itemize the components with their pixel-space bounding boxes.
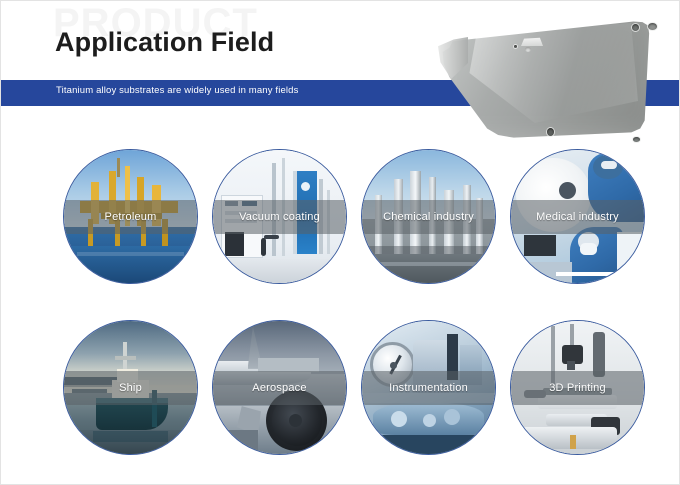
item-label: Instrumentation <box>386 382 471 394</box>
item-label: Petroleum <box>102 211 160 223</box>
application-row: Ship <box>1 306 680 471</box>
item-label: Medical industry <box>533 211 622 223</box>
circle-frame: Chemical industry <box>361 149 496 284</box>
item-label-bar: Instrumentation <box>362 371 495 405</box>
application-item-aerospace[interactable]: Aerospace <box>212 320 347 455</box>
item-label-bar: 3D Printing <box>511 371 644 405</box>
application-row: Petroleum <box>1 141 680 306</box>
titanium-plate-image <box>426 1 676 146</box>
item-label-bar: Vacuum coating <box>213 200 346 234</box>
item-label-bar: Aerospace <box>213 371 346 405</box>
application-item-chemical-industry[interactable]: Chemical industry <box>361 149 496 284</box>
item-label: 3D Printing <box>546 382 609 394</box>
item-label-bar: Medical industry <box>511 200 644 234</box>
circle-frame: Instrumentation <box>361 320 496 455</box>
item-label-bar: Ship <box>64 371 197 405</box>
plate-hole-icon <box>514 45 517 48</box>
application-field-page: PRODUCT Application Field Titanium alloy… <box>0 0 680 485</box>
application-item-vacuum-coating[interactable]: Vacuum coating <box>212 149 347 284</box>
plate-hole-icon <box>525 47 531 52</box>
plate-hole-icon <box>547 128 554 136</box>
circle-frame: Aerospace <box>212 320 347 455</box>
item-label: Ship <box>116 382 145 394</box>
plate-hole-icon <box>648 23 657 30</box>
item-label-bar: Petroleum <box>64 200 197 234</box>
application-item-ship[interactable]: Ship <box>63 320 198 455</box>
item-label: Vacuum coating <box>236 211 323 223</box>
item-label: Chemical industry <box>380 211 477 223</box>
circle-frame: Vacuum coating <box>212 149 347 284</box>
plate-body-shape <box>436 7 658 139</box>
application-item-petroleum[interactable]: Petroleum <box>63 149 198 284</box>
item-label: Aerospace <box>249 382 309 394</box>
page-title: Application Field <box>55 27 274 58</box>
application-item-medical-industry[interactable]: Medical industry <box>510 149 645 284</box>
application-grid: Petroleum <box>1 141 680 471</box>
header-banner-text: Titanium alloy substrates are widely use… <box>56 85 299 96</box>
application-item-instrumentation[interactable]: Instrumentation <box>361 320 496 455</box>
application-item-3d-printing[interactable]: 3D Printing <box>510 320 645 455</box>
plate-hole-icon <box>632 24 639 31</box>
item-label-bar: Chemical industry <box>362 200 495 234</box>
circle-frame: Medical industry <box>510 149 645 284</box>
circle-frame: Ship <box>63 320 198 455</box>
circle-frame: Petroleum <box>63 149 198 284</box>
circle-frame: 3D Printing <box>510 320 645 455</box>
